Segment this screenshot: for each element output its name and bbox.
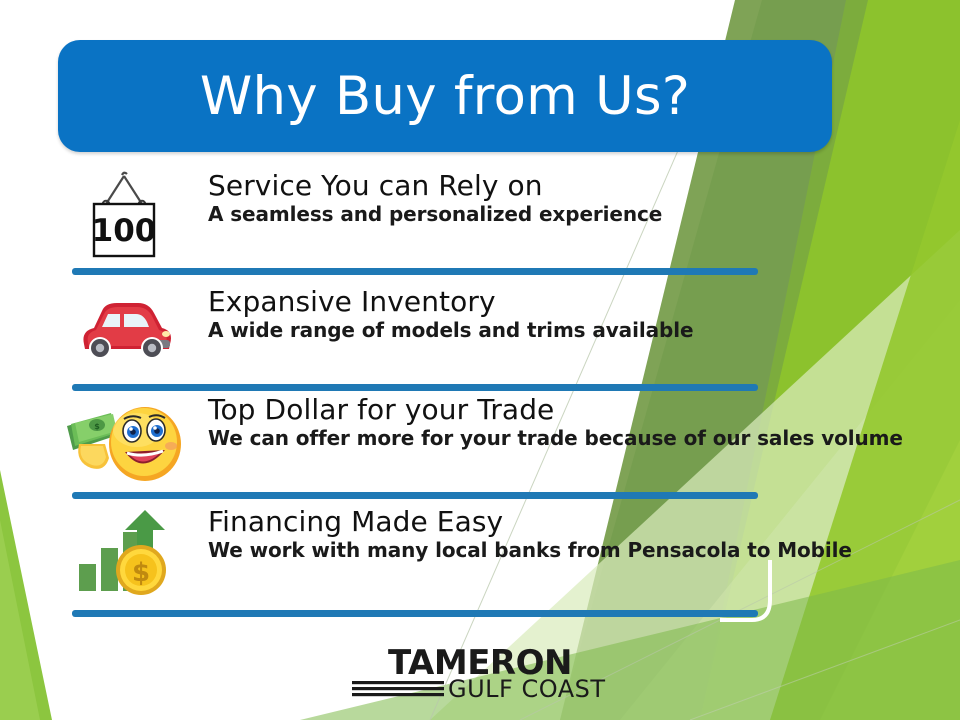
red-car-icon bbox=[40, 284, 208, 370]
growth-chart-dollar-coin-icon: $ bbox=[40, 504, 208, 600]
svg-text:$: $ bbox=[94, 422, 100, 431]
benefit-body: We can offer more for your trade because… bbox=[208, 427, 930, 450]
page-title: Why Buy from Us? bbox=[200, 70, 690, 123]
benefit-body: A wide range of models and trims availab… bbox=[208, 319, 930, 342]
coin-symbol: $ bbox=[132, 558, 150, 588]
benefit-row: 100 Service You can Rely on A seamless a… bbox=[0, 168, 960, 276]
benefit-row: Expansive Inventory A wide range of mode… bbox=[0, 276, 960, 386]
row-divider bbox=[72, 268, 758, 275]
sign-number: 100 bbox=[92, 213, 157, 249]
benefit-heading: Top Dollar for your Trade bbox=[208, 394, 930, 425]
benefit-heading: Expansive Inventory bbox=[208, 286, 930, 317]
benefit-row: $ bbox=[0, 386, 960, 500]
hanging-sign-100-icon: 100 bbox=[40, 168, 208, 264]
benefits-list: 100 Service You can Rely on A seamless a… bbox=[0, 168, 960, 618]
benefit-body: A seamless and personalized experience bbox=[208, 203, 930, 226]
benefit-heading: Financing Made Easy bbox=[208, 506, 930, 537]
hairline-3 bbox=[690, 620, 960, 720]
benefit-heading: Service You can Rely on bbox=[208, 170, 930, 201]
row-divider bbox=[72, 610, 758, 617]
benefit-row: $ Financing Made Easy We work with many … bbox=[0, 500, 960, 618]
slide-canvas: Why Buy from Us? 100 bbox=[0, 0, 960, 720]
tameron-gulf-coast-logo: TAMERON GULF COAST bbox=[352, 641, 610, 703]
logo-speed-lines bbox=[352, 681, 444, 696]
row-divider bbox=[72, 492, 758, 499]
smiley-with-money-icon: $ bbox=[40, 392, 208, 486]
logo-secondary-text: GULF COAST bbox=[448, 675, 606, 703]
slide-title-banner: Why Buy from Us? bbox=[58, 40, 832, 152]
benefit-body: We work with many local banks from Pensa… bbox=[208, 539, 930, 562]
